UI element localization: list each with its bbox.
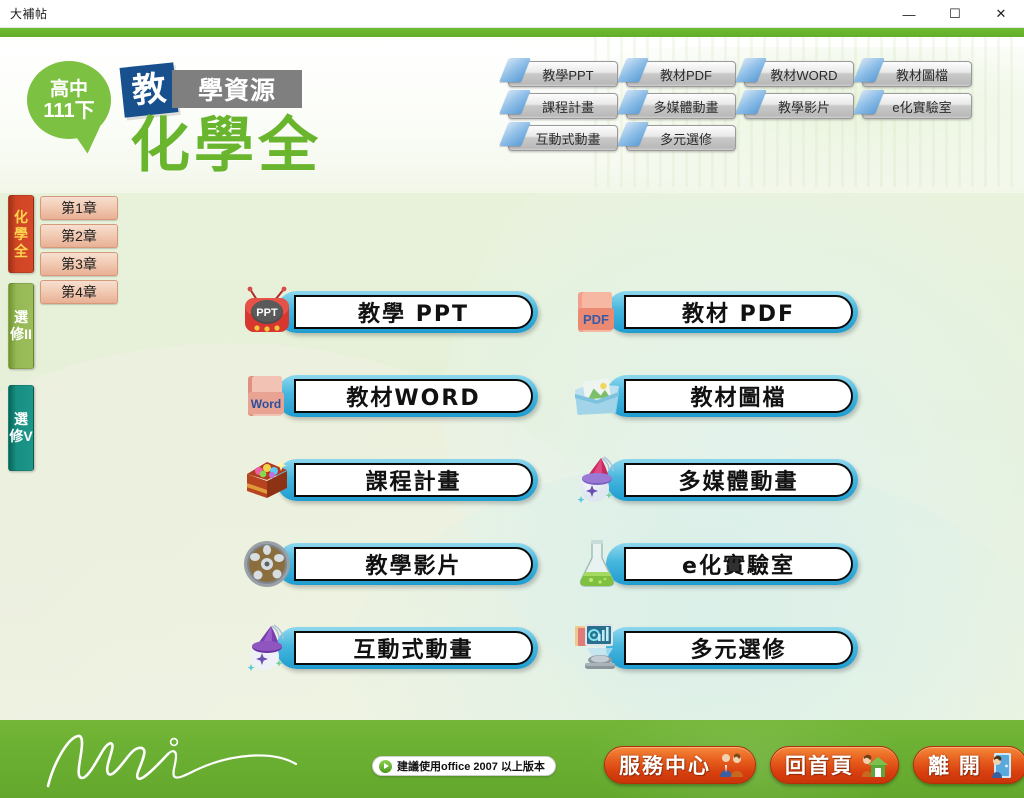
- topnav-button-label: e化實驗室: [882, 97, 951, 116]
- sidebar-tab-chemistry[interactable]: 化學全: [8, 195, 34, 273]
- main-menu-row: Word 教材WORD: [240, 369, 880, 423]
- svg-text:PDF: PDF: [583, 312, 609, 327]
- topnav-button-label: 多媒體動畫: [643, 97, 718, 116]
- menu-item-electives[interactable]: 多元選修: [570, 621, 870, 675]
- slash-icon: [617, 58, 649, 82]
- menu-pill[interactable]: 教材WORD: [276, 375, 538, 417]
- chapter-list: 第1章 第2章 第3章 第4章: [40, 196, 118, 308]
- menu-item-teaching-images[interactable]: 教材圖檔: [570, 369, 870, 423]
- slash-icon: [735, 90, 767, 114]
- photo-folder-icon: [570, 369, 624, 423]
- topnav-ppt-button[interactable]: 教學PPT: [508, 61, 618, 87]
- menu-item-teaching-ppt[interactable]: PPT 教學 PPT: [240, 285, 570, 339]
- main-menu-row: PPT 教學 PPT: [240, 285, 880, 339]
- menu-pill[interactable]: 教材圖檔: [606, 375, 858, 417]
- menu-item-teaching-pdf[interactable]: PDF 教材 PDF: [570, 285, 870, 339]
- topnav-button-label: 教學影片: [768, 97, 830, 116]
- slash-icon: [853, 90, 885, 114]
- brand-logo: 高中 111下 教 學資源 化學全: [22, 43, 322, 188]
- application-window: 大補帖 — ☐ ✕ 高中 111下 教 學資源 化學全: [0, 0, 1024, 798]
- menu-item-label: 多元選修: [690, 632, 786, 664]
- topnav-elab-button[interactable]: e化實驗室: [862, 93, 972, 119]
- topnav-syllabus-button[interactable]: 課程計畫: [508, 93, 618, 119]
- exit-label: 離 開: [928, 750, 982, 780]
- resource-mark-box: 學資源: [172, 70, 302, 108]
- window-controls: — ☐ ✕: [886, 0, 1024, 28]
- menu-item-multimedia-animation[interactable]: 多媒體動畫: [570, 453, 870, 507]
- flask-icon: [570, 537, 624, 591]
- menu-pill[interactable]: e化實驗室: [606, 543, 858, 585]
- grade-badge: 高中 111下: [27, 61, 111, 139]
- topnav-button-label: 互動式動畫: [525, 129, 600, 148]
- monitor-icon: [570, 621, 624, 675]
- book-title: 化學全: [130, 115, 322, 177]
- maximize-button[interactable]: ☐: [932, 0, 978, 28]
- menu-item-label: 教學 PPT: [358, 296, 469, 328]
- topnav-button-label: 教材圖檔: [886, 65, 948, 84]
- topnav-interactive-button[interactable]: 互動式動畫: [508, 125, 618, 151]
- menu-item-teaching-video[interactable]: 教學影片: [240, 537, 570, 591]
- treasure-chest-icon: [240, 453, 294, 507]
- topnav-button-label: 多元選修: [650, 129, 712, 148]
- header: 高中 111下 教 學資源 化學全 教學PPT 教材PDF: [0, 37, 1024, 193]
- sidebar-tab-label: 選修II: [9, 309, 33, 343]
- home-button[interactable]: 回首頁: [770, 746, 899, 784]
- topnav-button-label: 教學PPT: [532, 65, 593, 84]
- slash-icon: [617, 122, 649, 146]
- menu-item-elab[interactable]: e化實驗室: [570, 537, 870, 591]
- office-version-note-text: 建議使用office 2007 以上版本: [397, 758, 545, 774]
- office-version-note: 建議使用office 2007 以上版本: [372, 756, 556, 776]
- teaching-mark-char: 教: [130, 71, 167, 108]
- menu-pill[interactable]: 課程計畫: [276, 459, 538, 501]
- service-center-button[interactable]: 服務中心: [604, 746, 756, 784]
- grade-badge-line1: 高中: [50, 79, 88, 100]
- word-folder-icon: Word: [240, 369, 294, 423]
- menu-item-label: 教學影片: [365, 548, 461, 580]
- top-nav-row: 教學PPT 教材PDF 教材WORD 教材圖檔: [508, 61, 1008, 87]
- exit-button[interactable]: 離 開: [913, 746, 1024, 784]
- chapter-button-1[interactable]: 第1章: [40, 196, 118, 220]
- slash-icon: [853, 58, 885, 82]
- menu-pill[interactable]: 多媒體動畫: [606, 459, 858, 501]
- menu-item-label: 多媒體動畫: [678, 464, 798, 496]
- menu-pill[interactable]: 多元選修: [606, 627, 858, 669]
- film-reel-icon: [240, 537, 294, 591]
- pdf-folder-icon: PDF: [570, 285, 624, 339]
- topnav-word-button[interactable]: 教材WORD: [744, 61, 854, 87]
- window-title: 大補帖: [10, 5, 48, 22]
- menu-item-course-plan[interactable]: 課程計畫: [240, 453, 570, 507]
- play-icon: [379, 760, 392, 773]
- chapter-button-2[interactable]: 第2章: [40, 224, 118, 248]
- sidebar-tab-elective-2[interactable]: 選修II: [8, 283, 34, 369]
- menu-item-label: e化實驗室: [682, 548, 795, 580]
- menu-pill[interactable]: 互動式動畫: [276, 627, 538, 669]
- menu-item-label: 教材 PDF: [682, 296, 795, 328]
- main-menu-grid: PPT 教學 PPT: [240, 285, 880, 705]
- menu-pill[interactable]: 教學 PPT: [276, 291, 538, 333]
- close-button[interactable]: ✕: [978, 0, 1024, 28]
- exit-door-icon: [988, 751, 1016, 779]
- slash-icon: [499, 90, 531, 114]
- menu-item-label: 教材圖檔: [690, 380, 786, 412]
- svg-text:Word: Word: [251, 397, 281, 411]
- grade-badge-line2: 111下: [43, 100, 94, 122]
- service-center-label: 服務中心: [619, 750, 711, 780]
- top-nav-row: 課程計畫 多媒體動畫 教學影片 e化實驗室: [508, 93, 1008, 119]
- accent-bar: [0, 28, 1024, 37]
- menu-item-label: 課程計畫: [365, 464, 461, 496]
- topnav-video-button[interactable]: 教學影片: [744, 93, 854, 119]
- sidebar-tab-elective-5[interactable]: 選修V: [8, 385, 34, 471]
- menu-pill[interactable]: 教學影片: [276, 543, 538, 585]
- teaching-mark-box: 教: [120, 62, 179, 117]
- main-menu-row: 教學影片: [240, 537, 880, 591]
- content-area: 化學全 選修II 選修V 第1章 第2章 第3章 第4章: [0, 193, 1024, 720]
- topnav-pdf-button[interactable]: 教材PDF: [626, 61, 736, 87]
- main-menu-row: 互動式動畫: [240, 621, 880, 675]
- topnav-images-button[interactable]: 教材圖檔: [862, 61, 972, 87]
- nani-brand-logo: [34, 726, 324, 792]
- topnav-electives-button[interactable]: 多元選修: [626, 125, 736, 151]
- topnav-button-label: 教材PDF: [650, 65, 712, 84]
- wizard-hat-icon: [240, 621, 294, 675]
- home-icon: [860, 751, 888, 779]
- sidebar-tab-label: 選修V: [9, 411, 33, 445]
- service-people-icon: [717, 751, 745, 779]
- footer-buttons: 服務中心 回首頁: [604, 746, 1024, 784]
- topnav-multimedia-button[interactable]: 多媒體動畫: [626, 93, 736, 119]
- menu-item-teaching-word[interactable]: Word 教材WORD: [240, 369, 570, 423]
- home-label: 回首頁: [785, 750, 854, 780]
- chapter-button-3[interactable]: 第3章: [40, 252, 118, 276]
- topnav-button-label: 教材WORD: [760, 65, 837, 84]
- slash-icon: [499, 58, 531, 82]
- minimize-button[interactable]: —: [886, 0, 932, 28]
- top-navigation: 教學PPT 教材PDF 教材WORD 教材圖檔 課程計畫: [508, 61, 1008, 157]
- top-nav-row: 互動式動畫 多元選修: [508, 125, 1008, 151]
- tv-ppt-icon: PPT: [240, 285, 294, 339]
- menu-item-interactive-animation[interactable]: 互動式動畫: [240, 621, 570, 675]
- main-menu-row: 課程計畫: [240, 453, 880, 507]
- title-bar: 大補帖 — ☐ ✕: [0, 0, 1024, 28]
- topnav-button-label: 課程計畫: [532, 97, 594, 116]
- chapter-button-4[interactable]: 第4章: [40, 280, 118, 304]
- menu-item-label: 互動式動畫: [353, 632, 473, 664]
- svg-text:PPT: PPT: [256, 307, 278, 319]
- menu-item-label: 教材WORD: [346, 380, 480, 412]
- menu-pill[interactable]: 教材 PDF: [606, 291, 858, 333]
- wizard-hat-icon: [570, 453, 624, 507]
- sidebar-tab-label: 化學全: [9, 209, 33, 260]
- resource-mark-text: 學資源: [198, 71, 276, 107]
